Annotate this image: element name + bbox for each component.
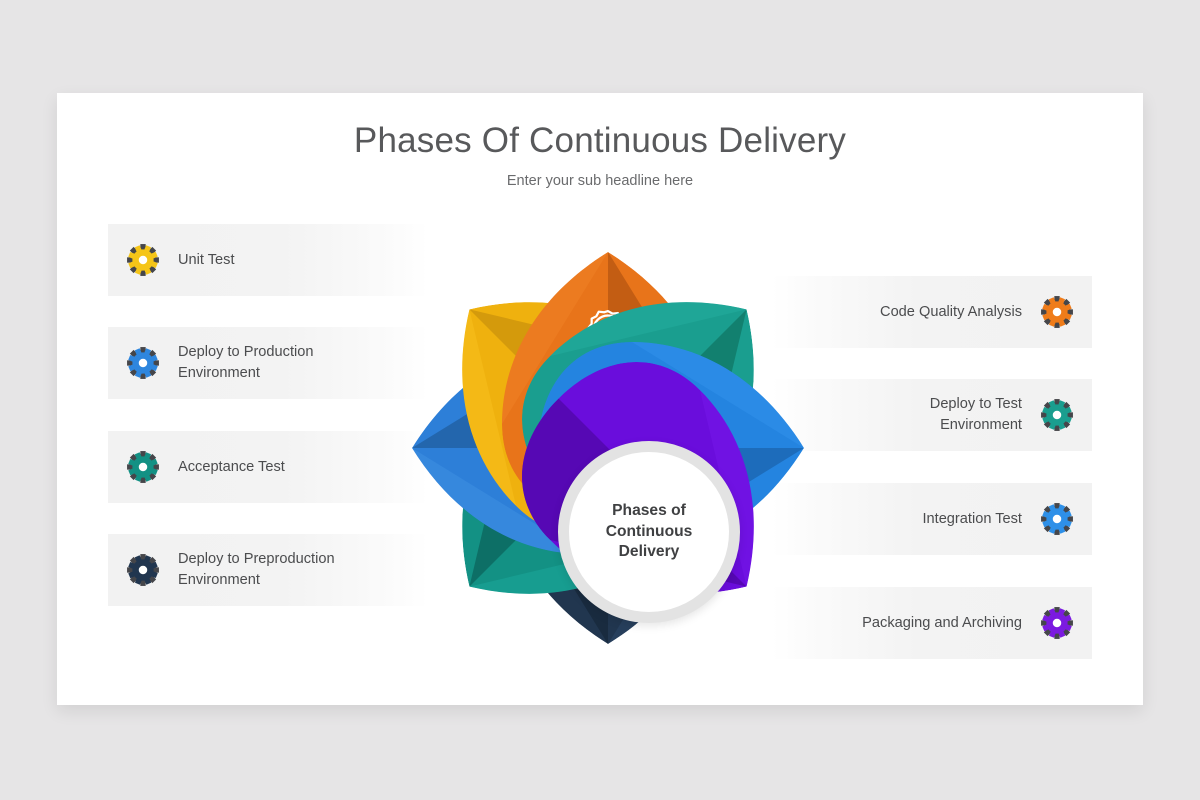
- gear-icon: [126, 553, 160, 587]
- gear-icon: [1040, 295, 1074, 329]
- page-title: Phases Of Continuous Delivery: [57, 121, 1143, 161]
- list-item-label: Unit Test: [178, 250, 235, 271]
- page-subtitle: Enter your sub headline here: [57, 173, 1143, 189]
- slide-canvas: Phases Of Continuous Delivery Enter your…: [57, 93, 1143, 705]
- gear-icon: [126, 346, 160, 380]
- center-hub: Phases of Continuous Delivery: [558, 441, 740, 623]
- gear-icon: [1040, 398, 1074, 432]
- list-item-label: Acceptance Test: [178, 457, 285, 478]
- gear-icon: [126, 450, 160, 484]
- gear-icon: [1040, 502, 1074, 536]
- list-item-label: Code Quality Analysis: [880, 302, 1022, 323]
- list-item-label: Packaging and Archiving: [862, 613, 1022, 634]
- list-item-label: Deploy to Test Environment: [930, 394, 1022, 435]
- list-item-label: Deploy to Production Environment: [178, 342, 313, 383]
- center-label: Phases of Continuous Delivery: [606, 501, 693, 563]
- list-item-label: Deploy to Preproduction Environment: [178, 549, 335, 590]
- gear-icon: [1040, 606, 1074, 640]
- list-item-label: Integration Test: [922, 509, 1022, 530]
- gear-icon: [126, 243, 160, 277]
